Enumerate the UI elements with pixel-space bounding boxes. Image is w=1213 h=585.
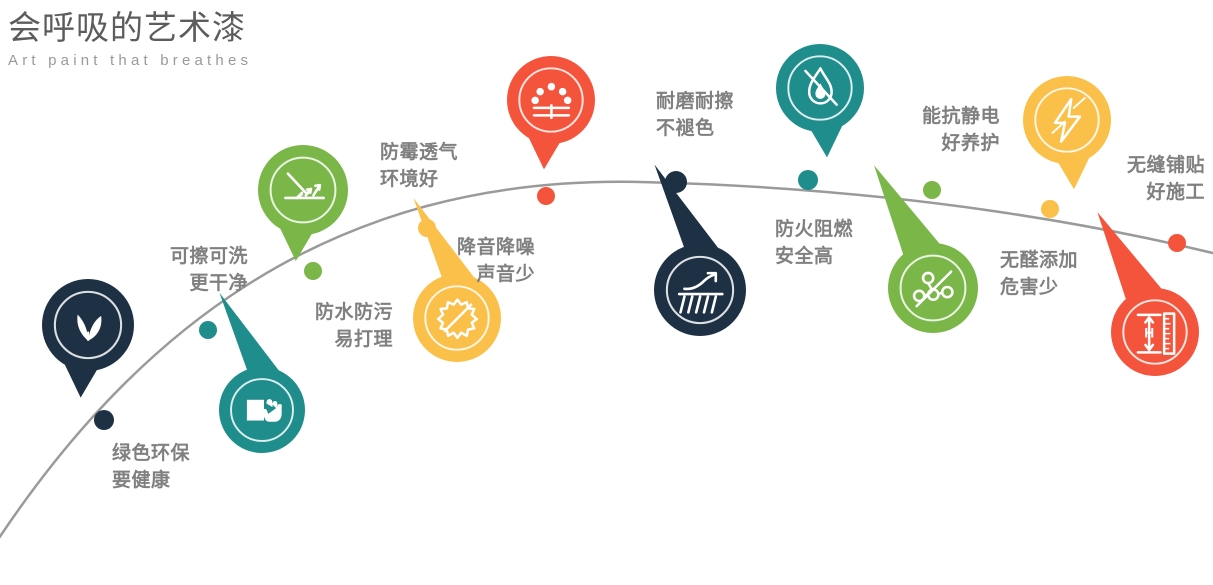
page-title: 会呼吸的艺术漆 <box>8 8 428 48</box>
molecule-icon <box>901 256 965 320</box>
feature-label-line2: 易打理 <box>0 326 393 353</box>
feature-label-line1: 能抗静电 <box>0 103 1000 130</box>
feature-label-line1: 无缝铺贴 <box>0 152 1205 179</box>
abrasion-icon <box>667 257 732 322</box>
pin-marker-seamless-install[interactable]: H <box>1060 237 1213 426</box>
feature-label-antistatic: 能抗静电好养护 <box>0 103 1000 157</box>
feature-label-noise-reduction: 降音降噪声音少 <box>0 234 535 288</box>
page-subtitle: Art paint that breathes <box>8 50 428 72</box>
lightning-icon <box>1036 89 1098 151</box>
feature-label-waterproof-antifoul: 防水防污易打理 <box>0 299 393 353</box>
feature-label-line1: 降音降噪 <box>0 234 535 261</box>
feature-label-seamless-install: 无缝铺贴好施工 <box>0 152 1205 206</box>
feature-label-line2: 好施工 <box>0 179 1205 206</box>
ruler-measure-icon: H <box>1124 301 1186 363</box>
feature-label-line2: 声音少 <box>0 261 535 288</box>
feature-label-line1: 防水防污 <box>0 299 393 326</box>
pin-marker-abrasion-colorfast[interactable] <box>601 191 799 389</box>
header: 会呼吸的艺术漆 Art paint that breathes <box>8 8 428 72</box>
infographic-canvas: 会呼吸的艺术漆 Art paint that breathes 绿色环保要健康 <box>0 0 1213 585</box>
wipe-hand-icon <box>231 379 292 440</box>
stain-repel-icon <box>426 287 488 349</box>
svg-text:H: H <box>1144 325 1154 340</box>
